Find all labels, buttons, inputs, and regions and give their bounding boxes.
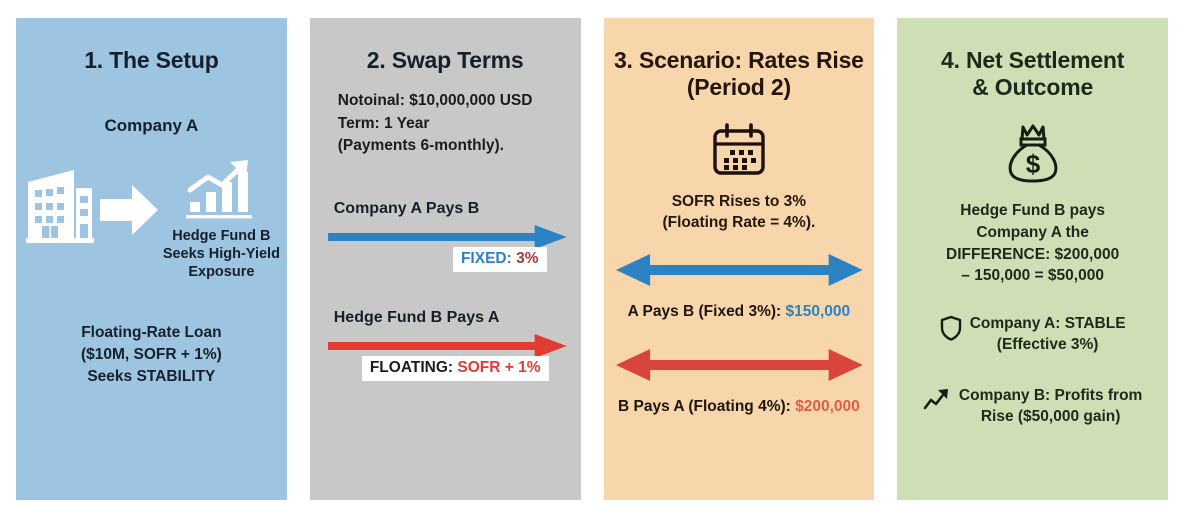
outcome-a-line1: Company A: STABLE (970, 315, 1126, 332)
hedge-fund-block: Hedge Fund B Seeks High-Yield Exposure (162, 158, 280, 281)
summary-line1: Hedge Fund B pays (960, 202, 1105, 219)
payment-a-to-b-amount: $150,000 (786, 303, 851, 320)
scenario-flow-fixed: A Pays B (Fixed 3%): $150,000 (614, 252, 865, 321)
panel-4-title-line1: 4. Net Settlement (941, 47, 1124, 73)
flow-2-label: Hedge Fund B Pays A (334, 309, 571, 327)
payment-b-to-a-amount: $200,000 (795, 398, 860, 415)
sofr-note-line2: (Floating Rate = 4%). (662, 214, 815, 231)
terms-notional: Notoinal: $10,000,000 USD (338, 90, 533, 112)
calendar-icon (711, 123, 767, 182)
payment-b-to-a-label: B Pays A (Floating 4%): (618, 398, 795, 415)
payment-a-to-b-label: A Pays B (Fixed 3%): (628, 303, 786, 320)
floating-tag-value: SOFR + 1% (457, 359, 540, 376)
outcome-company-a-text: Company A: STABLE (Effective 3%) (970, 313, 1126, 355)
svg-text:$: $ (1025, 149, 1040, 179)
net-settlement-summary: Hedge Fund B pays Company A the DIFFEREN… (946, 200, 1119, 287)
swap-infographic: 1. The Setup Company A (0, 0, 1184, 518)
outcome-company-b-text: Company B: Profits from Rise ($50,000 ga… (959, 385, 1142, 427)
flow-hedge-fund-b-pays-a: Hedge Fund B Pays A FLOATING: SOFR + 1% (320, 309, 571, 386)
loan-note-line2: ($10M, SOFR + 1%) (81, 346, 222, 363)
panel-4-title-line2: & Outcome (972, 74, 1093, 100)
terms-payments: (Payments 6-monthly). (338, 135, 533, 157)
fixed-rate-tag: FIXED: 3% (453, 247, 547, 272)
panel-3-title-line2: (Period 2) (687, 74, 791, 100)
flow-1-label: Company A Pays B (334, 200, 571, 218)
outcome-company-a: Company A: STABLE (Effective 3%) (932, 313, 1134, 355)
loan-note-line1: Floating-Rate Loan (81, 324, 221, 341)
summary-line2: Company A the (976, 224, 1089, 241)
money-bag-icon: $ (1005, 121, 1061, 188)
panel-the-setup: 1. The Setup Company A (16, 18, 287, 500)
terms-term: Term: 1 Year (338, 113, 533, 135)
outcome-b-line1: Company B: Profits from (959, 387, 1142, 404)
shield-icon (940, 313, 962, 346)
flow-company-a-pays-b: Company A Pays B FIXED: 3% (320, 200, 571, 277)
setup-flow-row: Hedge Fund B Seeks High-Yield Exposure (26, 158, 277, 281)
company-a-label: Company A (104, 116, 198, 136)
swap-terms-list: Notoinal: $10,000,000 USD Term: 1 Year (… (338, 90, 533, 157)
floating-rate-tag: FLOATING: SOFR + 1% (362, 356, 549, 381)
payment-a-to-b: A Pays B (Fixed 3%): $150,000 (614, 303, 865, 321)
office-building-icon (22, 158, 96, 249)
hedge-fund-caption-line3: Exposure (188, 264, 254, 280)
sofr-note-line1: SOFR Rises to 3% (672, 193, 806, 210)
panel-4-title: 4. Net Settlement & Outcome (941, 47, 1124, 101)
panel-swap-terms: 2. Swap Terms Notoinal: $10,000,000 USD … (310, 18, 581, 500)
panel-3-title: 3. Scenario: Rates Rise (Period 2) (614, 47, 864, 101)
right-arrow-icon (98, 158, 160, 243)
loan-note-line3: Seeks STABILITY (87, 368, 215, 385)
summary-line3: DIFFERENCE: $200,000 (946, 246, 1119, 263)
fixed-tag-key: FIXED: (461, 250, 512, 267)
payment-b-to-a: B Pays A (Floating 4%): $200,000 (614, 398, 865, 416)
floating-rate-loan-note: Floating-Rate Loan ($10M, SOFR + 1%) See… (81, 322, 222, 388)
outcome-a-line2: (Effective 3%) (997, 336, 1099, 353)
panel-scenario-rates-rise: 3. Scenario: Rates Rise (Period 2) (604, 18, 875, 500)
panel-2-title: 2. Swap Terms (367, 47, 524, 74)
panel-1-title: 1. The Setup (84, 47, 218, 74)
bar-chart-growth-icon (182, 158, 260, 225)
scenario-flow-floating: B Pays A (Floating 4%): $200,000 (614, 347, 865, 416)
red-double-arrow-icon (614, 347, 865, 388)
panel-net-settlement: 4. Net Settlement & Outcome $ Hedge Fund… (897, 18, 1168, 500)
hedge-fund-caption-line1: Hedge Fund B (172, 228, 270, 244)
blue-double-arrow-icon (614, 252, 865, 293)
hedge-fund-caption-line2: Seeks High-Yield (163, 246, 280, 262)
sofr-rise-note: SOFR Rises to 3% (Floating Rate = 4%). (662, 192, 815, 234)
hedge-fund-caption: Hedge Fund B Seeks High-Yield Exposure (163, 227, 280, 281)
outcome-company-b: Company B: Profits from Rise ($50,000 ga… (915, 385, 1150, 427)
floating-tag-key: FLOATING: (370, 359, 453, 376)
trending-up-icon (923, 385, 951, 416)
summary-line4: – 150,000 = $50,000 (961, 267, 1104, 284)
fixed-tag-value: 3% (516, 250, 538, 267)
panel-3-title-line1: 3. Scenario: Rates Rise (614, 47, 864, 73)
outcome-b-line2: Rise ($50,000 gain) (981, 408, 1121, 425)
